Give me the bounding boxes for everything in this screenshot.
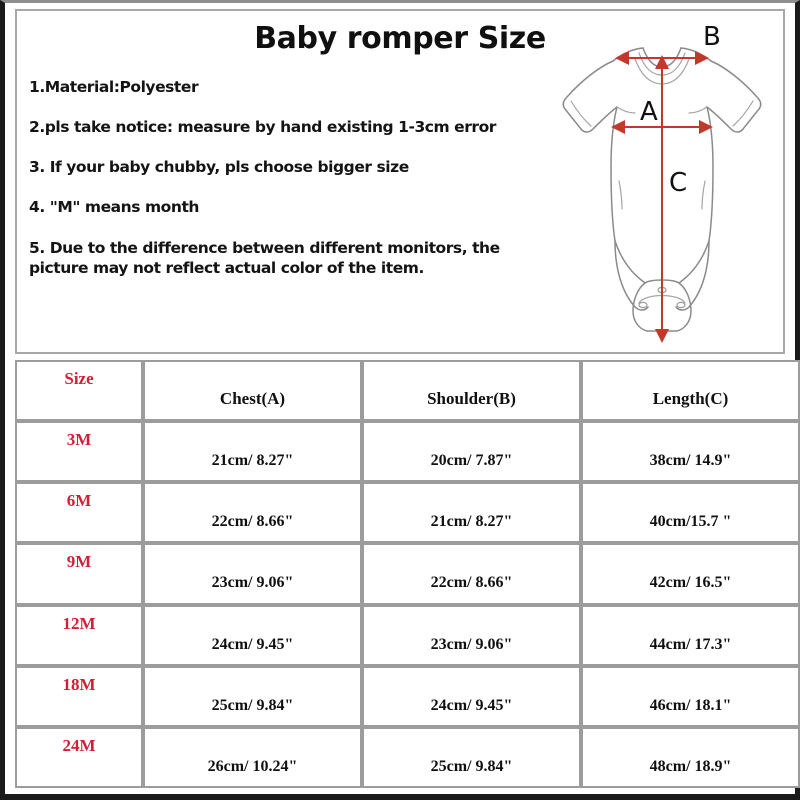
cell-shoulder: 24cm/ 9.45" (362, 666, 581, 727)
chest-dimension-label: A (640, 97, 658, 127)
size-label: 3M (17, 423, 141, 450)
header-label-size: Size (17, 362, 141, 389)
cell-shoulder: 25cm/ 9.84" (362, 727, 581, 788)
cell-shoulder: 20cm/ 7.87" (362, 421, 581, 482)
size-label: 6M (17, 484, 141, 511)
header-cell-size: Size (15, 360, 143, 421)
length-value: 46cm/ 18.1" (583, 668, 798, 715)
header-cell-shoulder: Shoulder(B) (362, 360, 581, 421)
chest-value: 24cm/ 9.45" (145, 607, 360, 654)
cell-shoulder: 21cm/ 8.27" (362, 482, 581, 543)
cell-size: 9M (15, 543, 143, 604)
length-dimension-label: C (669, 168, 687, 198)
header-cell-length: Length(C) (581, 360, 800, 421)
length-value: 48cm/ 18.9" (583, 729, 798, 776)
table-header-row: Size Chest(A) Shoulder(B) Length(C) (15, 360, 800, 421)
shoulder-dimension-label: B (703, 22, 721, 52)
length-value: 42cm/ 16.5" (583, 545, 798, 592)
table-row: 12M 24cm/ 9.45" 23cm/ 9.06" 44cm/ 17.3" (15, 605, 800, 666)
info-panel: Baby romper Size 1.Material:Polyester 2.… (15, 9, 785, 354)
header-label-length: Length(C) (583, 362, 798, 409)
note-item: 4. "M" means month (29, 197, 549, 217)
cell-shoulder: 23cm/ 9.06" (362, 605, 581, 666)
cell-length: 38cm/ 14.9" (581, 421, 800, 482)
length-value: 40cm/15.7 " (583, 484, 798, 531)
shoulder-value: 24cm/ 9.45" (364, 668, 579, 715)
cell-length: 48cm/ 18.9" (581, 727, 800, 788)
chest-value: 22cm/ 8.66" (145, 484, 360, 531)
size-label: 12M (17, 607, 141, 634)
length-value: 44cm/ 17.3" (583, 607, 798, 654)
shoulder-value: 25cm/ 9.84" (364, 729, 579, 776)
cell-length: 42cm/ 16.5" (581, 543, 800, 604)
cell-size: 12M (15, 605, 143, 666)
cell-chest: 22cm/ 8.66" (143, 482, 362, 543)
romper-diagram: B A C (551, 15, 773, 351)
notes-list: 1.Material:Polyester 2.pls take notice: … (29, 77, 549, 278)
size-table: Size Chest(A) Shoulder(B) Length(C) 3M 2… (15, 360, 800, 788)
table-row: 9M 23cm/ 9.06" 22cm/ 8.66" 42cm/ 16.5" (15, 543, 800, 604)
shoulder-value: 20cm/ 7.87" (364, 423, 579, 470)
header-label-shoulder: Shoulder(B) (364, 362, 579, 409)
shoulder-value: 23cm/ 9.06" (364, 607, 579, 654)
shoulder-value: 22cm/ 8.66" (364, 545, 579, 592)
size-chart-page: Baby romper Size 1.Material:Polyester 2.… (0, 0, 800, 800)
chest-value: 23cm/ 9.06" (145, 545, 360, 592)
note-item: 5. Due to the difference between differe… (29, 238, 549, 278)
cell-chest: 26cm/ 10.24" (143, 727, 362, 788)
shoulder-value: 21cm/ 8.27" (364, 484, 579, 531)
table-row: 6M 22cm/ 8.66" 21cm/ 8.27" 40cm/15.7 " (15, 482, 800, 543)
cell-chest: 25cm/ 9.84" (143, 666, 362, 727)
length-value: 38cm/ 14.9" (583, 423, 798, 470)
cell-chest: 24cm/ 9.45" (143, 605, 362, 666)
cell-size: 24M (15, 727, 143, 788)
table-row: 24M 26cm/ 10.24" 25cm/ 9.84" 48cm/ 18.9" (15, 727, 800, 788)
cell-length: 44cm/ 17.3" (581, 605, 800, 666)
chest-value: 21cm/ 8.27" (145, 423, 360, 470)
cell-size: 3M (15, 421, 143, 482)
note-item: 3. If your baby chubby, pls choose bigge… (29, 157, 549, 177)
size-label: 9M (17, 545, 141, 572)
chest-value: 25cm/ 9.84" (145, 668, 360, 715)
cell-size: 6M (15, 482, 143, 543)
cell-length: 40cm/15.7 " (581, 482, 800, 543)
cell-chest: 21cm/ 8.27" (143, 421, 362, 482)
header-label-chest: Chest(A) (145, 362, 360, 409)
cell-size: 18M (15, 666, 143, 727)
cell-shoulder: 22cm/ 8.66" (362, 543, 581, 604)
header-cell-chest: Chest(A) (143, 360, 362, 421)
table-row: 18M 25cm/ 9.84" 24cm/ 9.45" 46cm/ 18.1" (15, 666, 800, 727)
table-row: 3M 21cm/ 8.27" 20cm/ 7.87" 38cm/ 14.9" (15, 421, 800, 482)
size-label: 18M (17, 668, 141, 695)
cell-length: 46cm/ 18.1" (581, 666, 800, 727)
cell-chest: 23cm/ 9.06" (143, 543, 362, 604)
size-label: 24M (17, 729, 141, 756)
note-item: 1.Material:Polyester (29, 77, 549, 97)
chest-value: 26cm/ 10.24" (145, 729, 360, 776)
note-item: 2.pls take notice: measure by hand exist… (29, 117, 549, 137)
